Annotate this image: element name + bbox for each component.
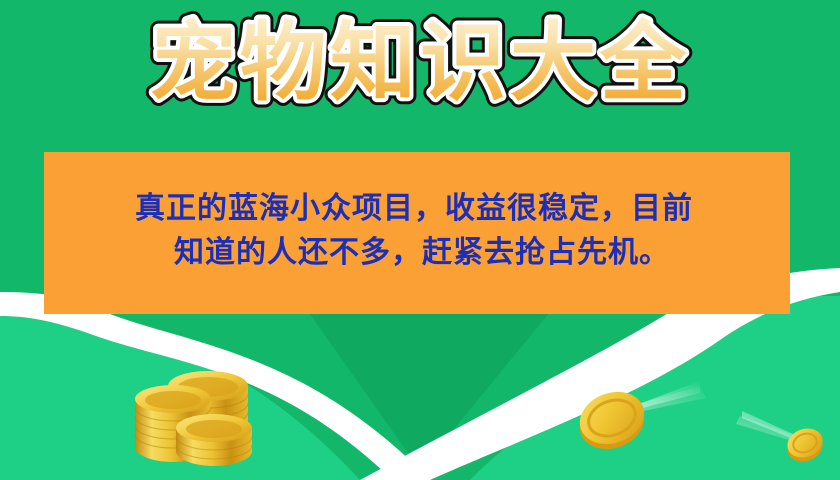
subtitle-line-1: 真正的蓝海小众项目，收益很稳定，目前 — [135, 187, 693, 231]
subtitle-panel: 真正的蓝海小众项目，收益很稳定，目前 知道的人还不多，赶紧去抢占先机。 — [44, 152, 790, 314]
subtitle-line-2: 知道的人还不多，赶紧去抢占先机。 — [174, 231, 670, 275]
poster-canvas: 宠物知识大全 宠物知识大全 宠物知识大全 宠物知识大全 真正的蓝海小众项目，收益… — [0, 0, 840, 480]
coin-stack-short — [176, 414, 252, 466]
